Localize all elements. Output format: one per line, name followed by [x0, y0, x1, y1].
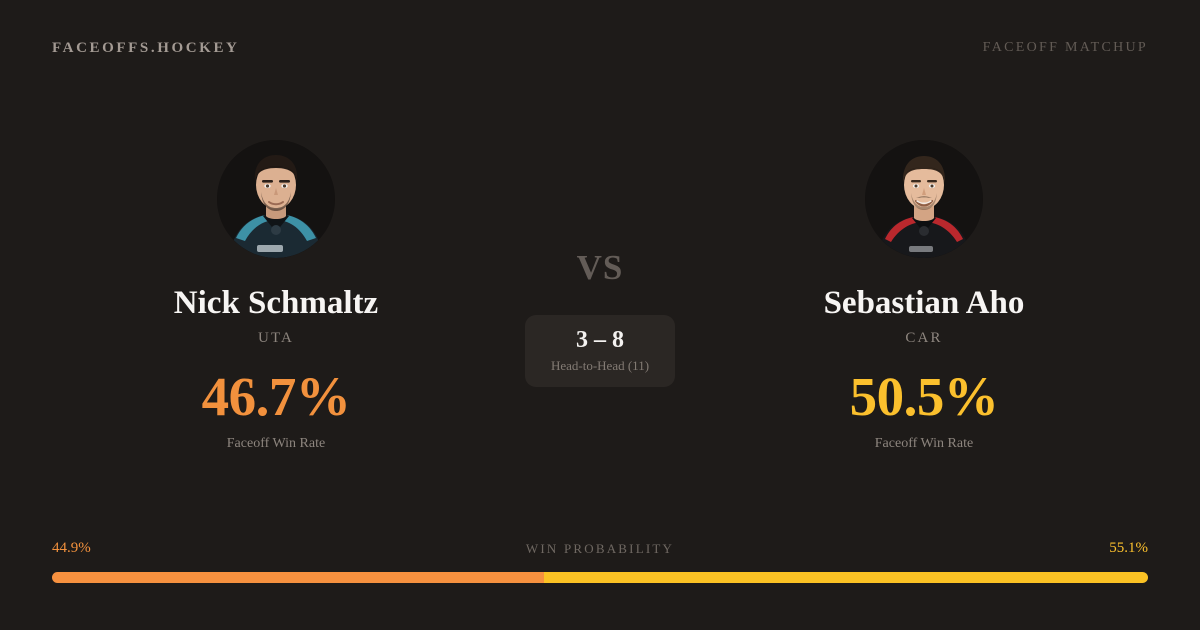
head-to-head-score: 3 – 8	[576, 327, 624, 353]
player-faceoff-label-right: Faceoff Win Rate	[875, 436, 973, 452]
win-probability-section: 44.9% WIN PROBABILITY 55.1%	[52, 540, 1148, 583]
win-probability-header: 44.9% WIN PROBABILITY 55.1%	[52, 540, 1148, 562]
player-card-right[interactable]: Sebastian Aho CAR 50.5% Faceoff Win Rate	[694, 140, 1154, 452]
site-logo[interactable]: FACEOFFS.HOCKEY	[52, 40, 239, 57]
head-to-head-label: Head-to-Head (11)	[551, 358, 649, 374]
matchup-section: Nick Schmaltz UTA 46.7% Faceoff Win Rate…	[0, 140, 1200, 480]
head-to-head-badge: 3 – 8 Head-to-Head (11)	[525, 315, 675, 387]
player-team-left: UTA	[258, 330, 294, 347]
header: FACEOFFS.HOCKEY FACEOFF MATCHUP	[0, 0, 1200, 96]
player-faceoff-label-left: Faceoff Win Rate	[227, 436, 325, 452]
win-probability-bar[interactable]	[52, 572, 1148, 583]
win-probability-bar-left-segment	[52, 572, 544, 583]
player-headshot-left	[217, 140, 335, 258]
header-subtitle: FACEOFF MATCHUP	[983, 40, 1148, 56]
win-probability-title: WIN PROBABILITY	[52, 541, 1148, 557]
win-probability-right-pct: 55.1%	[1109, 540, 1148, 557]
win-probability-bar-right-segment	[544, 572, 1148, 583]
versus-label: VS	[577, 250, 624, 285]
player-faceoff-pct-left: 46.7%	[202, 369, 351, 424]
player-card-left[interactable]: Nick Schmaltz UTA 46.7% Faceoff Win Rate	[46, 140, 506, 452]
matchup-card: FACEOFFS.HOCKEY FACEOFF MATCHUP	[0, 0, 1200, 630]
player-faceoff-pct-right: 50.5%	[850, 369, 999, 424]
player-name-right: Sebastian Aho	[824, 285, 1025, 321]
player-headshot-right	[865, 140, 983, 258]
player-team-right: CAR	[905, 330, 942, 347]
player-name-left: Nick Schmaltz	[174, 285, 378, 321]
versus-block: VS 3 – 8 Head-to-Head (11)	[480, 250, 720, 387]
